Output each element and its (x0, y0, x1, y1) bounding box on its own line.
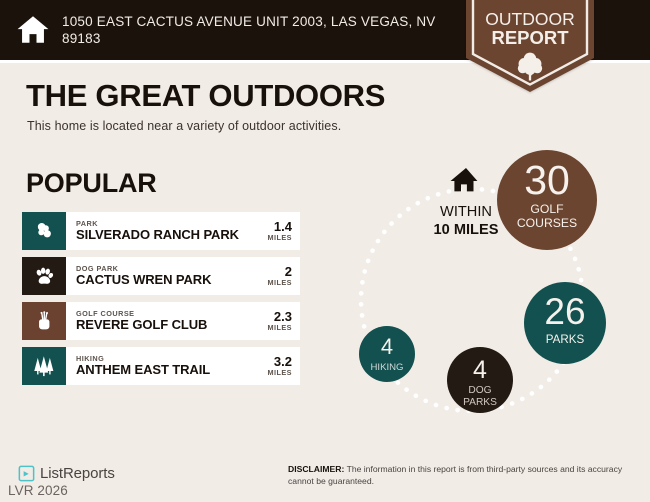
within-10-miles-chart: WITHIN 10 MILES 30 GOLF COURSES 26 PARKS… (330, 140, 650, 440)
bubble-label-1: HIKING (370, 362, 403, 373)
list-item-distance: 2.3 (267, 310, 292, 324)
list-item-name: ANTHEM EAST TRAIL (76, 363, 210, 377)
list-item[interactable]: PARK SILVERADO RANCH PARK 1.4 MILES (22, 212, 300, 250)
list-item-category: DOG PARK (76, 265, 211, 273)
badge-line2: REPORT (491, 27, 569, 48)
list-item-category: GOLF COURSE (76, 310, 207, 318)
list-item-distance: 2 (267, 265, 292, 279)
listreports-logo-text: ListReports (40, 465, 115, 482)
park-tree-icon (22, 212, 66, 250)
pine-trees-icon (22, 347, 66, 385)
bubble-parks: 26 PARKS (524, 282, 606, 364)
bubble-hiking: 4 HIKING (359, 326, 415, 382)
bubble-label-2: COURSES (517, 216, 577, 230)
page-title: THE GREAT OUTDOORS (26, 78, 385, 114)
list-item[interactable]: HIKING ANTHEM EAST TRAIL 3.2 MILES (22, 347, 300, 385)
center-label-line2: 10 MILES (434, 222, 499, 238)
list-item-category: HIKING (76, 355, 210, 363)
bubble-value: 4 (381, 334, 393, 359)
list-item-distance: 1.4 (267, 220, 292, 234)
property-address: 1050 EAST CACTUS AVENUE UNIT 2003, LAS V… (62, 13, 447, 47)
disclaimer-label: DISCLAIMER: (288, 464, 344, 474)
list-item-unit: MILES (267, 279, 292, 287)
bubble-label-2: PARKS (463, 397, 497, 408)
bubble-golf-courses: 30 GOLF COURSES (497, 150, 597, 250)
list-item-distance: 3.2 (267, 355, 292, 369)
bubble-label-1: DOG (468, 385, 491, 396)
list-item-category: PARK (76, 220, 239, 228)
bubble-value: 30 (524, 157, 570, 203)
list-item-name: CACTUS WREN PARK (76, 273, 211, 287)
bubble-value: 4 (473, 356, 487, 384)
home-icon (16, 13, 50, 47)
list-item[interactable]: DOG PARK CACTUS WREN PARK 2 MILES (22, 257, 300, 295)
list-item-name: REVERE GOLF CLUB (76, 318, 207, 332)
lvr-label: LVR 2026 (8, 483, 68, 498)
list-item-name: SILVERADO RANCH PARK (76, 228, 239, 242)
paw-icon (22, 257, 66, 295)
badge-line1: OUTDOOR (485, 9, 574, 29)
golf-bag-icon (22, 302, 66, 340)
listreports-logo-icon (18, 465, 35, 482)
popular-heading: POPULAR (26, 168, 157, 199)
center-home-icon (451, 168, 478, 191)
list-item-unit: MILES (267, 369, 292, 377)
bubble-value: 26 (544, 291, 585, 332)
list-item-unit: MILES (267, 234, 292, 242)
bubble-dog-parks: 4 DOG PARKS (447, 347, 513, 413)
outdoor-report-badge: OUTDOOR REPORT (466, 0, 594, 92)
center-label-line1: WITHIN (440, 204, 492, 220)
popular-list: PARK SILVERADO RANCH PARK 1.4 MILES (22, 212, 300, 392)
disclaimer: DISCLAIMER: The information in this repo… (288, 464, 636, 487)
bubble-label-1: GOLF (530, 202, 563, 216)
bubble-label-1: PARKS (546, 333, 585, 346)
list-item[interactable]: GOLF COURSE REVERE GOLF CLUB 2.3 MILES (22, 302, 300, 340)
listreports-logo[interactable]: ListReports (18, 465, 115, 482)
page-subtitle: This home is located near a variety of o… (27, 119, 341, 133)
outdoor-report-infographic: 1050 EAST CACTUS AVENUE UNIT 2003, LAS V… (0, 0, 650, 502)
list-item-unit: MILES (267, 324, 292, 332)
